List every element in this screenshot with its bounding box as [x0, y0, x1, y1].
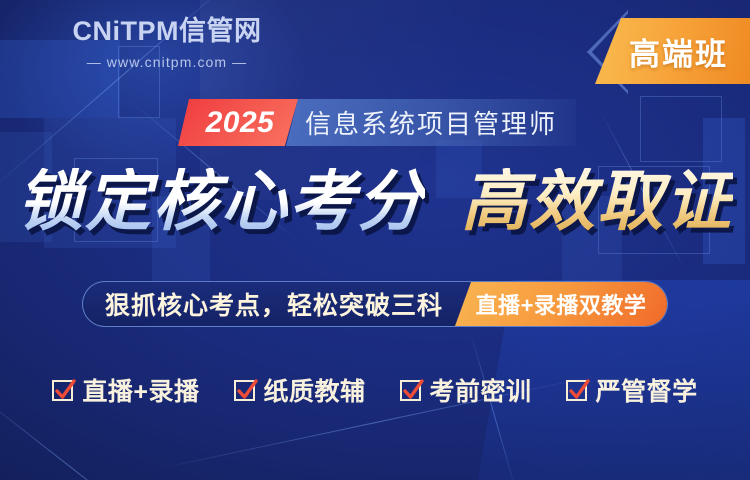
feature-label: 纸质教辅: [264, 372, 366, 408]
list-item: 纸质教辅: [234, 372, 366, 408]
feature-label: 严管督学: [596, 372, 698, 408]
teaching-mode-label: 直播+录播双教学: [476, 288, 647, 320]
feature-label: 考前密训: [430, 372, 532, 408]
exam-title-row: 2025 信息系统项目管理师: [178, 99, 576, 146]
exam-name-chip: 信息系统项目管理师: [286, 99, 576, 146]
subtitle-pill: 狠抓核心考点，轻松突破三科 直播+录播双教学: [82, 281, 668, 327]
checkbox-checked-icon: [400, 380, 421, 401]
headline: 锁定核心考分 高效取证: [0, 168, 750, 234]
list-item: 直播+录播: [52, 372, 199, 408]
background-square: [640, 96, 722, 162]
headline-part-1: 锁定核心考分: [17, 168, 425, 234]
exam-name-label: 信息系统项目管理师: [305, 104, 557, 141]
checkbox-checked-icon: [566, 380, 587, 401]
checkbox-checked-icon: [234, 380, 255, 401]
year-label: 2025: [206, 106, 275, 140]
list-item: 考前密训: [400, 372, 532, 408]
list-item: 严管督学: [566, 372, 698, 408]
premium-class-label: 高端班: [629, 29, 728, 74]
site-logo[interactable]: CNiTPM信管网 — www.cnitpm.com —: [32, 17, 302, 70]
teaching-mode-tag: 直播+录播双教学: [455, 282, 667, 326]
checkbox-checked-icon: [52, 380, 73, 401]
premium-class-ribbon[interactable]: 高端班: [595, 18, 750, 84]
feature-list: 直播+录播 纸质教辅 考前密训 严管督学: [0, 372, 750, 408]
logo-brand-text: CNiTPM信管网: [32, 17, 302, 47]
promo-banner[interactable]: CNiTPM信管网 — www.cnitpm.com — 高端班 2025 信息…: [0, 0, 750, 480]
subtitle-text: 狠抓核心考点，轻松突破三科: [83, 286, 455, 322]
headline-part-2: 高效取证: [461, 168, 733, 234]
feature-label: 直播+录播: [82, 372, 199, 408]
year-chip: 2025: [178, 99, 298, 146]
logo-url-text: — www.cnitpm.com —: [32, 54, 302, 70]
